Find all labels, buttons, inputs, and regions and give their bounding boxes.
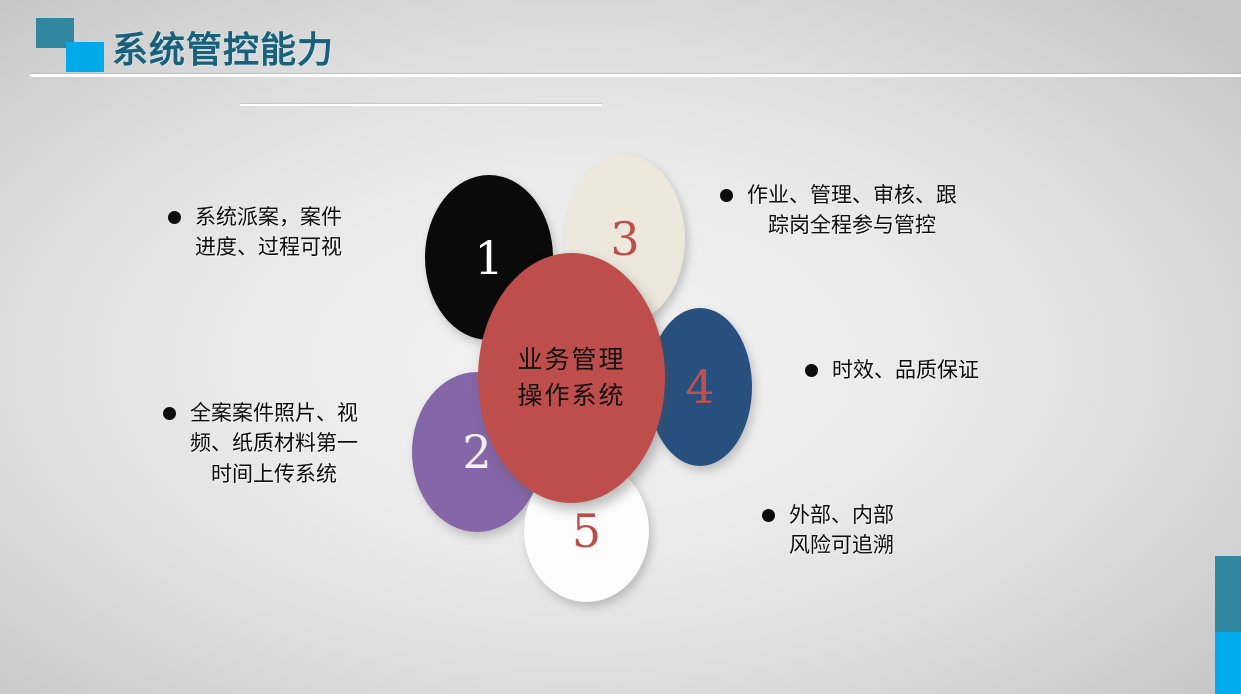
petal-number-3: 3: [610, 216, 639, 262]
petal-number-4: 4: [685, 364, 714, 410]
callout-5-line1: 外部、内部: [789, 503, 894, 527]
callout-2-text: 全案案件照片、视 频、纸质材料第一 时间上传系统: [190, 398, 358, 489]
callout-2-line2: 频、纸质材料第一: [190, 431, 358, 455]
callout-4-line1: 时效、品质保证: [832, 358, 979, 382]
callout-4: 时效、品质保证: [805, 355, 1040, 385]
callout-1-line2: 进度、过程可视: [195, 235, 342, 259]
bullet-dot-icon: [762, 509, 775, 522]
callout-1-text: 系统派案，案件 进度、过程可视: [195, 202, 342, 263]
bullet-dot-icon: [168, 211, 181, 224]
petal-number-5: 5: [572, 508, 601, 554]
center-label-line2: 操作系统: [517, 378, 625, 414]
bullet-dot-icon: [805, 364, 818, 377]
callout-2-line1: 全案案件照片、视: [190, 401, 358, 425]
center-label-line1: 业务管理: [517, 342, 625, 378]
callout-4-text: 时效、品质保证: [832, 355, 979, 385]
petal-diagram: 1 3 2 4 5 业务管理 操作系统: [0, 0, 1241, 694]
slide-canvas: 系统管控能力 1 3 2 4 5 业务管理 操作系统 系统派案，案件: [0, 0, 1241, 694]
callout-1-line1: 系统派案，案件: [195, 205, 342, 229]
callout-5-text: 外部、内部 风险可追溯: [789, 500, 894, 561]
callout-2-line3: 时间上传系统: [211, 462, 337, 486]
callout-3-line2: 踪岗全程参与管控: [768, 213, 936, 237]
callout-1: 系统派案，案件 进度、过程可视: [168, 202, 414, 263]
callout-2: 全案案件照片、视 频、纸质材料第一 时间上传系统: [163, 398, 425, 489]
callout-5: 外部、内部 风险可追溯: [762, 500, 982, 561]
center-ellipse[interactable]: 业务管理 操作系统: [478, 253, 665, 503]
petal-number-2: 2: [462, 429, 491, 475]
bullet-dot-icon: [163, 407, 176, 420]
callout-3-line1: 作业、管理、审核、跟: [747, 183, 957, 207]
callout-3: 作业、管理、审核、跟 踪岗全程参与管控: [720, 180, 1050, 241]
callout-5-line2: 风险可追溯: [789, 533, 894, 557]
callout-3-text: 作业、管理、审核、跟 踪岗全程参与管控: [747, 180, 957, 241]
petal-number-1: 1: [474, 235, 503, 281]
bullet-dot-icon: [720, 189, 733, 202]
